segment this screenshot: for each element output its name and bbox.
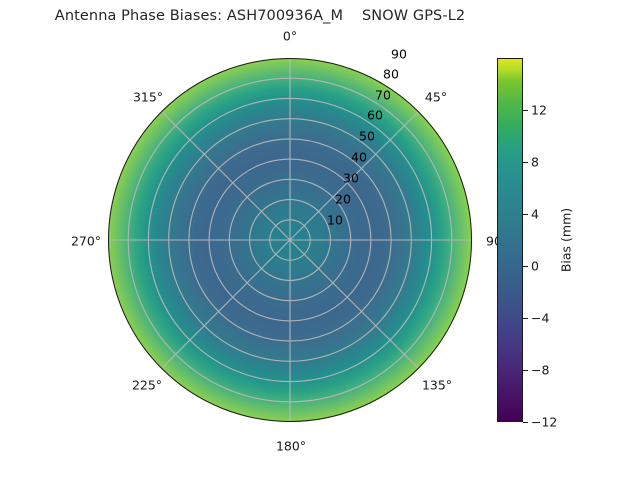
- polar-heatmap-surface: [108, 58, 472, 422]
- colorbar-ticklabel-m12: −12: [531, 415, 557, 430]
- colorbar-tick-8: [523, 162, 528, 163]
- colorbar-tick-4: [523, 214, 528, 215]
- r-ticklabel-30: 30: [343, 171, 359, 186]
- colorbar-axis-label: Bias (mm): [559, 208, 574, 272]
- colorbar-tick-m8: [523, 370, 528, 371]
- colorbar-ticklabel-4: 4: [531, 207, 539, 222]
- colorbar-tick-0: [523, 266, 528, 267]
- colorbar-ticklabel-12: 12: [531, 103, 547, 118]
- theta-ticklabel-270: 270°: [71, 234, 101, 249]
- r-ticklabel-70: 70: [375, 88, 391, 103]
- theta-ticklabel-180: 180°: [276, 439, 306, 454]
- theta-ticklabel-225: 225°: [132, 378, 162, 393]
- colorbar-ticklabel-0: 0: [531, 259, 539, 274]
- polar-axes[interactable]: 10 20 30 40 50 60 70 80 90: [108, 58, 472, 422]
- theta-ticklabel-315: 315°: [133, 90, 163, 105]
- r-ticklabel-10: 10: [327, 213, 343, 228]
- theta-ticklabel-45: 45°: [425, 90, 447, 105]
- colorbar-ticklabel-8: 8: [531, 155, 539, 170]
- r-ticklabel-50: 50: [359, 129, 375, 144]
- r-ticklabel-20: 20: [335, 192, 351, 207]
- figure-canvas: Antenna Phase Biases: ASH700936A_M SNOW …: [0, 0, 640, 480]
- colorbar-ticklabel-m8: −8: [531, 363, 549, 378]
- theta-ticklabel-0: 0°: [283, 29, 297, 44]
- r-ticklabel-40: 40: [351, 150, 367, 165]
- colorbar-tick-m4: [523, 318, 528, 319]
- colorbar-tick-12: [523, 110, 528, 111]
- page-title: Antenna Phase Biases: ASH700936A_M SNOW …: [0, 8, 520, 24]
- theta-ticklabel-135: 135°: [422, 378, 452, 393]
- r-ticklabel-60: 60: [367, 108, 383, 123]
- r-ticklabel-80: 80: [383, 67, 399, 82]
- colorbar[interactable]: 12 8 4 0 −4 −8 −12: [497, 58, 523, 422]
- colorbar-ticklabel-m4: −4: [531, 311, 549, 326]
- r-ticklabel-90: 90: [391, 47, 407, 62]
- colorbar-gradient: [497, 58, 523, 422]
- colorbar-tick-m12: [523, 422, 528, 423]
